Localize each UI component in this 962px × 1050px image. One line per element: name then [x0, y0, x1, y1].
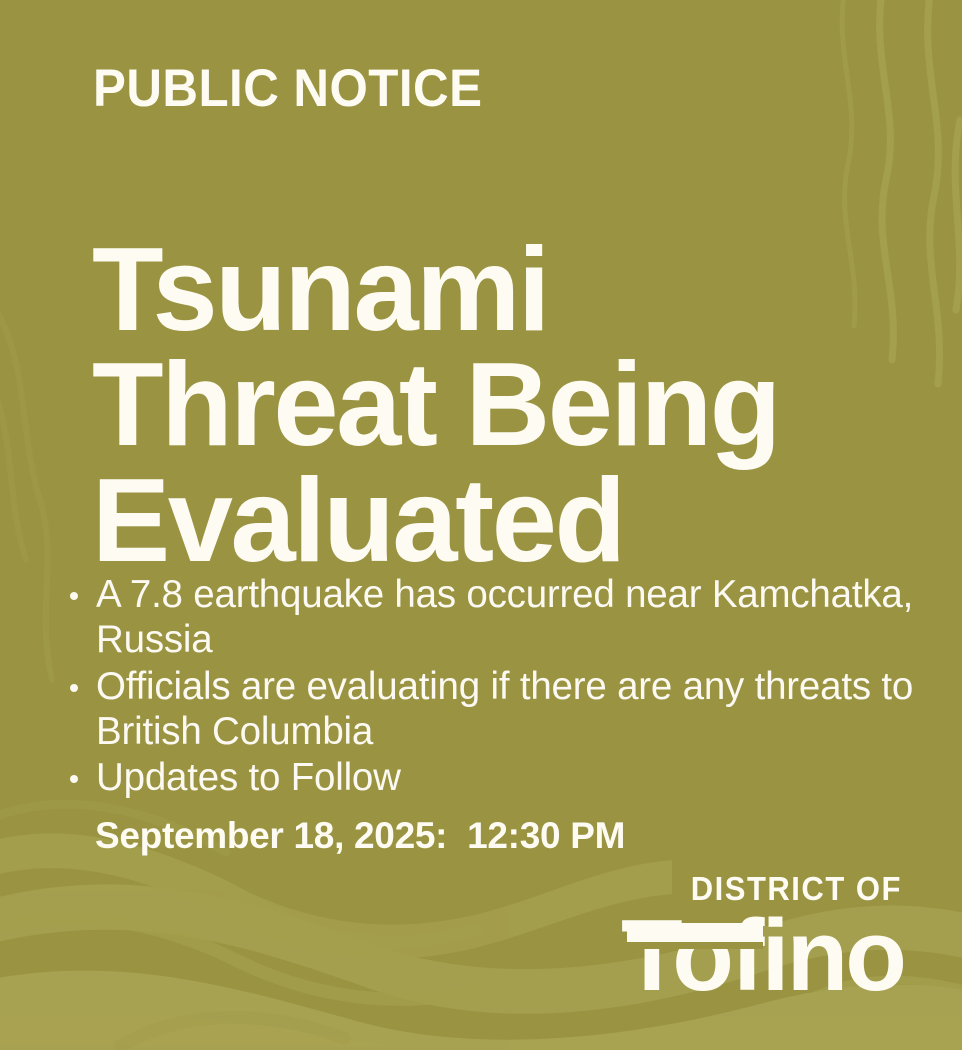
headline-line-3: Evaluated: [92, 463, 910, 578]
logo-t-crossbar-gap: [627, 942, 763, 949]
district-of-tofino-logo: DISTRICT OF Tofino: [624, 872, 902, 1003]
list-item: A 7.8 earthquake has occurred near Kamch…: [66, 573, 926, 663]
eyebrow-public-notice: PUBLIC NOTICE: [93, 62, 482, 115]
bullet-dot-icon: [70, 592, 78, 600]
bullet-dot-icon: [70, 775, 78, 783]
public-notice-card: PUBLIC NOTICE Tsunami Threat Being Evalu…: [0, 0, 962, 1050]
bullet-dot-icon: [70, 684, 78, 692]
list-item: Officials are evaluating if there are an…: [66, 665, 926, 755]
list-item-text: Updates to Follow: [96, 756, 401, 799]
headline-line-2: Threat Being: [92, 347, 910, 462]
notice-timestamp: September 18, 2025: 12:30 PM: [95, 815, 625, 857]
headline-line-1: Tsunami: [92, 232, 910, 347]
notice-bullet-list: A 7.8 earthquake has occurred near Kamch…: [66, 573, 926, 803]
logo-t-crossbar: [627, 923, 763, 942]
list-item: Updates to Follow: [66, 756, 926, 801]
list-item-text: A 7.8 earthquake has occurred near Kamch…: [96, 573, 913, 661]
logo-tofino-text: Tofino: [621, 906, 904, 1007]
list-item-text: Officials are evaluating if there are an…: [96, 665, 913, 753]
page-title: Tsunami Threat Being Evaluated: [92, 232, 910, 578]
logo-tofino-wordmark: Tofino: [624, 915, 902, 1003]
